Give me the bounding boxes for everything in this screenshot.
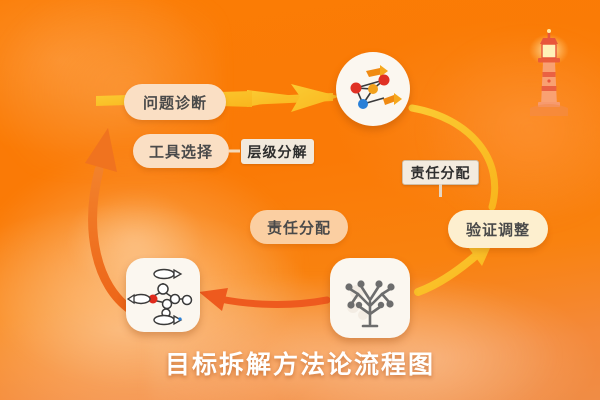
connector-layer <box>0 0 600 400</box>
lighthouse-icon <box>528 24 570 120</box>
diagram-canvas: 问题诊断 工具选择 责任分配 验证调整 层级分解 责任分配 <box>0 0 600 400</box>
page-title: 目标拆解方法论流程图 <box>0 345 600 381</box>
